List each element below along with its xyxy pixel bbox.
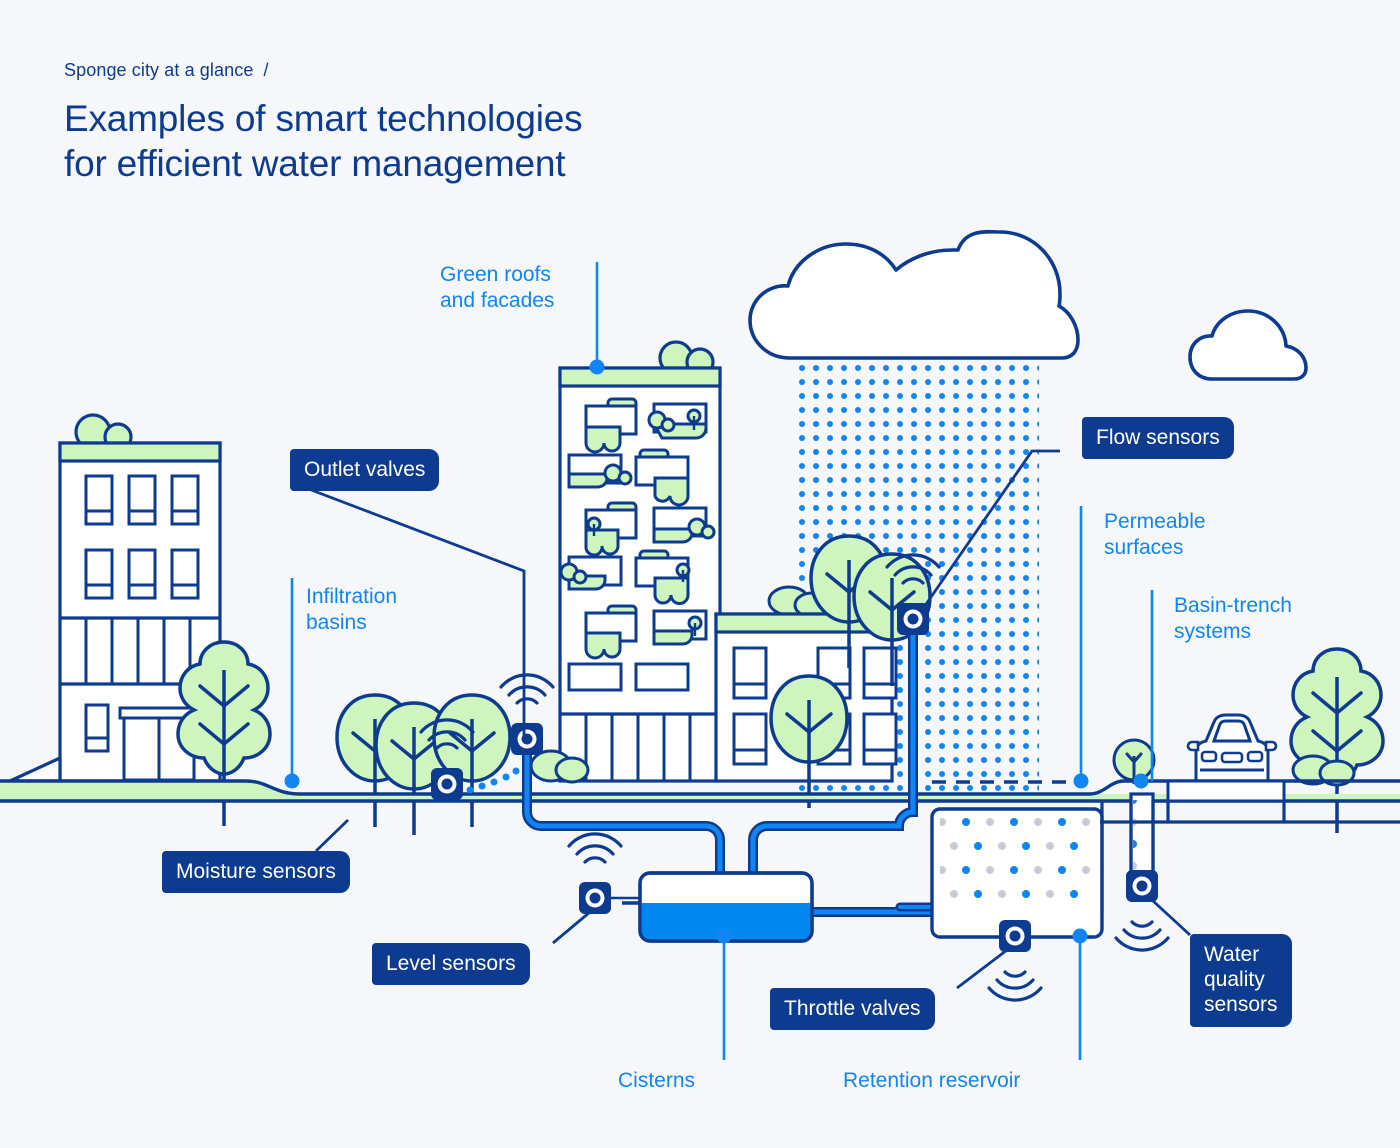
rain-cloud — [750, 232, 1078, 358]
cistern — [622, 873, 812, 941]
permeable-road-surface — [1168, 781, 1284, 801]
label-moisture-sensors: Moisture sensors — [162, 851, 350, 893]
kicker-slash: / — [263, 60, 268, 80]
dot-basin-trench — [1134, 774, 1149, 789]
chip-moisture-sensors: Moisture sensors — [162, 851, 350, 893]
dot-retention — [1073, 929, 1088, 944]
green-roof-strip — [560, 368, 720, 386]
car — [1188, 715, 1276, 781]
small-cloud — [1190, 311, 1306, 379]
water-quality-sensor[interactable] — [1116, 870, 1168, 950]
dot-infiltration — [285, 774, 300, 789]
label-cisterns: Cisterns — [618, 1068, 695, 1094]
label-level-sensors: Level sensors — [372, 943, 530, 985]
label-infiltration-basins: Infiltration basins — [306, 584, 397, 635]
label-green-roofs: Green roofs and facades — [440, 262, 554, 313]
tree-basin-3 — [434, 695, 510, 827]
chip-level-sensors: Level sensors — [372, 943, 530, 985]
label-flow-sensors: Flow sensors — [1082, 417, 1234, 459]
chip-water-quality-sensors: Water quality sensors — [1190, 934, 1292, 1027]
dot-permeable — [1074, 774, 1089, 789]
label-water-quality: Water quality sensors — [1190, 934, 1292, 1027]
label-throttle-valves: Throttle valves — [770, 988, 935, 1030]
page-kicker: Sponge city at a glance/ — [64, 60, 269, 81]
label-retention-reservoir: Retention reservoir — [843, 1068, 1020, 1094]
green-roof-strip — [60, 443, 220, 461]
kicker-text: Sponge city at a glance — [64, 60, 253, 80]
tree-right-verge — [1291, 649, 1383, 833]
tree-sapling-road — [1114, 740, 1154, 784]
dot-cisterns — [717, 929, 732, 944]
page-title: Examples of smart technologies for effic… — [64, 96, 582, 186]
chip-outlet-valves: Outlet valves — [290, 449, 439, 491]
tall-green-facade-tower — [531, 342, 720, 782]
chip-flow-sensors: Flow sensors — [1082, 417, 1234, 459]
dot-green-roofs — [590, 360, 605, 375]
infographic-canvas: Sponge city at a glance/ Examples of sma… — [0, 0, 1400, 1148]
retention-reservoir — [932, 809, 1102, 937]
label-outlet-valves: Outlet valves — [290, 449, 439, 491]
label-basin-trench: Basin-trench systems — [1174, 593, 1292, 644]
chip-throttle-valves: Throttle valves — [770, 988, 935, 1030]
label-permeable-surfaces: Permeable surfaces — [1104, 509, 1206, 560]
